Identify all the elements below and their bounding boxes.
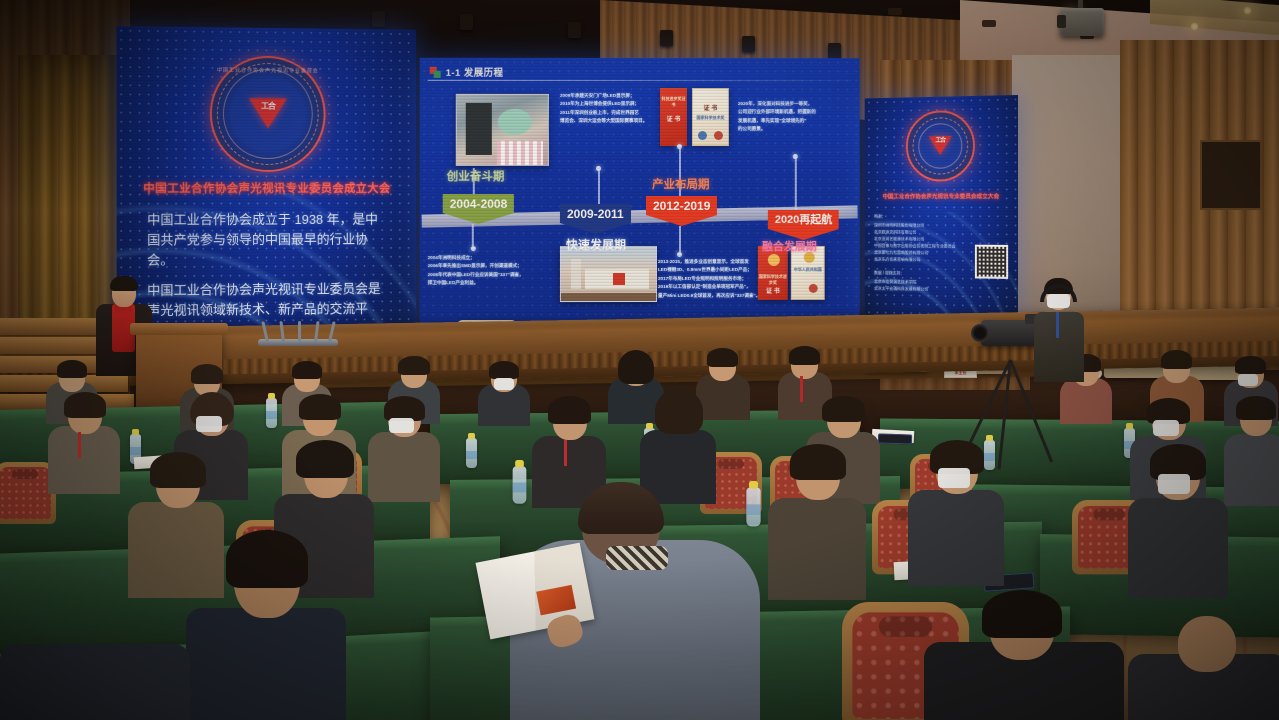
timeline-tag-label: 2009-2011 bbox=[560, 204, 631, 223]
water-bottle bbox=[466, 438, 477, 468]
lanyard bbox=[564, 440, 567, 466]
face-mask bbox=[389, 418, 414, 433]
left-screen-title: 中国工业合作协会声光视讯专业委员会成立大会 bbox=[125, 180, 408, 196]
face-mask bbox=[1238, 374, 1258, 386]
timeline-tag: 2004-2008 bbox=[443, 194, 515, 213]
timeline-connector bbox=[679, 226, 681, 254]
audience-member bbox=[1224, 396, 1279, 500]
ceiling-downlight bbox=[982, 20, 996, 27]
timeline-tag: 2020再起航 bbox=[768, 210, 839, 229]
certificate-label: 中华人民共和国 bbox=[792, 267, 824, 273]
emblem-triangle-icon: 工合 bbox=[249, 98, 287, 128]
audience-member bbox=[0, 614, 190, 720]
center-led-slide: 1-1 发展历程 科技进步奖证书 证 书 证 书 国家科学技术奖 bbox=[420, 58, 860, 328]
water-bottle bbox=[266, 398, 277, 428]
chair-handle-slot bbox=[12, 469, 38, 479]
ceiling-downlight bbox=[888, 8, 902, 15]
timeline-node bbox=[793, 154, 798, 159]
audience-member bbox=[532, 398, 606, 502]
face-mask bbox=[494, 378, 514, 390]
timeline-phase-label: 创业奋斗期 bbox=[447, 168, 505, 184]
right-screen-title: 中国工业合作协会声光视讯专业委员会成立大会 bbox=[867, 191, 1016, 200]
timeline-phase-label: 融合发展期 bbox=[762, 238, 817, 254]
conference-hall-scene: 中国工业合作协会声光视讯专业委员会 工合 中国工业合作协会声光视讯专业委员会成立… bbox=[0, 0, 1279, 720]
lanyard bbox=[800, 376, 803, 402]
person-hair bbox=[398, 356, 430, 375]
early-workshop-photo bbox=[456, 94, 549, 166]
right-led-screen: 工合 中国工业合作协会声光视讯专业委员会成立大会 鸣谢： 深圳市洲明科技股份有限… bbox=[865, 95, 1018, 320]
smartphone bbox=[878, 433, 912, 444]
timeline-connector bbox=[472, 224, 474, 248]
chair-handle-slot bbox=[1094, 508, 1125, 520]
videographer bbox=[1030, 278, 1088, 410]
person-body bbox=[908, 490, 1004, 586]
foreground-attendee-reading bbox=[510, 488, 760, 720]
left-screen-paragraph-1: 中国工业合作协会成立于 1938 年，是中国共产党参与领导的中国最早的行业协会。 bbox=[147, 210, 390, 271]
certificate-white-bottom: 中华人民共和国 bbox=[791, 246, 825, 300]
certificate-title: 证 书 bbox=[693, 103, 728, 112]
timeline-note: 2004年洲明科技成立； 2006年率先推出SMD显示屏，开创渠道模式； 200… bbox=[428, 254, 558, 288]
audience-member bbox=[908, 440, 1004, 580]
timeline-tag-label: 2004-2008 bbox=[443, 194, 515, 213]
booklet-cover-graphic bbox=[536, 585, 576, 615]
person-hair bbox=[1235, 356, 1266, 374]
person-body bbox=[48, 426, 120, 494]
emblem-center-text: 工合 bbox=[255, 100, 281, 111]
stage-light bbox=[460, 14, 473, 30]
person-body bbox=[1128, 498, 1228, 598]
sponsor-item: 北京东方佳禾音响有限公司 bbox=[874, 256, 920, 263]
person-hair bbox=[1161, 350, 1192, 369]
face-mask bbox=[1153, 420, 1179, 436]
slide-title: 1-1 发展历程 bbox=[446, 65, 504, 79]
timeline-tag: 2009-2011 bbox=[560, 204, 631, 223]
association-emblem-icon: 中国工业合作协会声光视讯专业委员会 工合 bbox=[210, 55, 326, 172]
person-hair bbox=[150, 452, 206, 488]
timeline-connector bbox=[795, 158, 797, 210]
certificate-seal-icon bbox=[698, 131, 707, 140]
stage-light bbox=[372, 11, 385, 27]
timeline-tag-label: 2012-2019 bbox=[646, 196, 717, 215]
certificate-white-top: 证 书 国家科学技术奖 bbox=[692, 88, 729, 146]
person-body bbox=[368, 432, 440, 502]
lanyard bbox=[1056, 312, 1059, 338]
person-hair bbox=[822, 396, 865, 422]
emblem-center-text: 工合 bbox=[932, 137, 949, 145]
face-mask bbox=[1158, 474, 1190, 494]
face-mask bbox=[196, 416, 222, 432]
face-mask bbox=[938, 468, 970, 488]
timeline-node bbox=[596, 166, 601, 171]
audience-member bbox=[186, 530, 346, 720]
stage-light bbox=[660, 30, 673, 46]
timeline-node bbox=[677, 252, 682, 257]
person-head bbox=[1178, 616, 1236, 672]
audience-member bbox=[478, 362, 530, 424]
certificate-seal-icon bbox=[809, 284, 818, 293]
microphone bbox=[298, 321, 301, 342]
person-hair bbox=[296, 440, 354, 478]
timeline-note: 2013-2015，推进多业态创意显示，全球首发 LED裸眼3D、0.8mm世界… bbox=[658, 258, 796, 300]
audience-member bbox=[1128, 616, 1279, 720]
ceiling-spotlight bbox=[1190, 22, 1199, 31]
audience-member bbox=[640, 392, 716, 498]
person-hair bbox=[548, 396, 591, 424]
person-hair bbox=[64, 392, 106, 418]
audience-member bbox=[768, 444, 866, 592]
person-hair bbox=[191, 364, 223, 384]
association-emblem-icon: 工合 bbox=[906, 110, 975, 182]
supporter-item: 北京太平宏通科技发展有限公司 bbox=[874, 285, 928, 293]
timeline-note: 2020年，深化面对科技进步一等奖， 公司迎行业外部环境新机遇，把握新的 发展机… bbox=[738, 100, 850, 134]
patterned-scarf bbox=[606, 546, 668, 570]
support-heading: 数据 / 视频支持： bbox=[874, 269, 904, 276]
factory-campus-photo bbox=[560, 246, 657, 302]
person-hair bbox=[292, 361, 322, 379]
audience-member bbox=[48, 392, 120, 488]
stage-light bbox=[568, 22, 581, 38]
stage-light bbox=[742, 36, 755, 52]
slide-squares-icon bbox=[430, 66, 441, 77]
person-hair bbox=[707, 348, 738, 367]
timeline-node bbox=[677, 144, 682, 149]
camera-lens-icon bbox=[971, 324, 989, 342]
videographer-vest bbox=[1034, 312, 1084, 382]
audience-member bbox=[1128, 444, 1228, 592]
emblem-ring-text: 中国工业合作协会声光视讯专业委员会 bbox=[212, 66, 324, 74]
speaker-hair bbox=[110, 276, 138, 291]
person-hair bbox=[982, 590, 1062, 638]
chair-handle-slot bbox=[718, 459, 744, 469]
person-hair bbox=[299, 394, 341, 420]
person-hair bbox=[578, 482, 664, 534]
person-hair bbox=[790, 444, 846, 480]
person-body bbox=[768, 498, 866, 600]
person-hair bbox=[1236, 396, 1276, 420]
emblem-triangle-icon: 工合 bbox=[929, 136, 952, 155]
sponsor-heading: 鸣谢： bbox=[874, 213, 885, 220]
timeline-note: 2009年承建天安门广场LED显示屏； 2010年为上海世博会提供LED显示屏；… bbox=[560, 92, 684, 126]
person-body bbox=[1224, 434, 1279, 506]
lanyard bbox=[78, 432, 81, 458]
person-body bbox=[0, 644, 190, 720]
person-hair bbox=[57, 360, 87, 378]
timeline-phase-label: 产业布局期 bbox=[652, 176, 709, 192]
ceiling-projector-icon bbox=[1060, 8, 1104, 36]
qr-code-icon bbox=[975, 245, 1008, 279]
person-hair bbox=[789, 346, 820, 365]
person-body bbox=[186, 608, 346, 720]
stage-light bbox=[828, 43, 841, 59]
ceiling-spotlight bbox=[1243, 6, 1252, 15]
person-hair bbox=[618, 350, 654, 384]
person-hair bbox=[655, 388, 703, 434]
wall-recess bbox=[1200, 140, 1262, 210]
audience-member bbox=[924, 596, 1124, 720]
certificate-label: 国家科学技术奖 bbox=[693, 115, 728, 121]
microphone-array bbox=[258, 318, 338, 342]
person-hair bbox=[226, 530, 308, 588]
timeline-tag: 2012-2019 bbox=[646, 196, 717, 215]
slide-title-bar: 1-1 发展历程 bbox=[430, 65, 504, 79]
left-led-screen: 中国工业合作协会声光视讯专业委员会 工合 中国工业合作协会声光视讯专业委员会成立… bbox=[117, 26, 416, 348]
certificate-seal-icon bbox=[714, 131, 723, 140]
audience-member bbox=[368, 396, 440, 496]
timeline-tag-label: 2020再起航 bbox=[768, 210, 839, 229]
timeline-phase-label: 快速发展期 bbox=[566, 236, 626, 253]
podium-top bbox=[130, 323, 228, 335]
person-hair bbox=[489, 361, 519, 379]
